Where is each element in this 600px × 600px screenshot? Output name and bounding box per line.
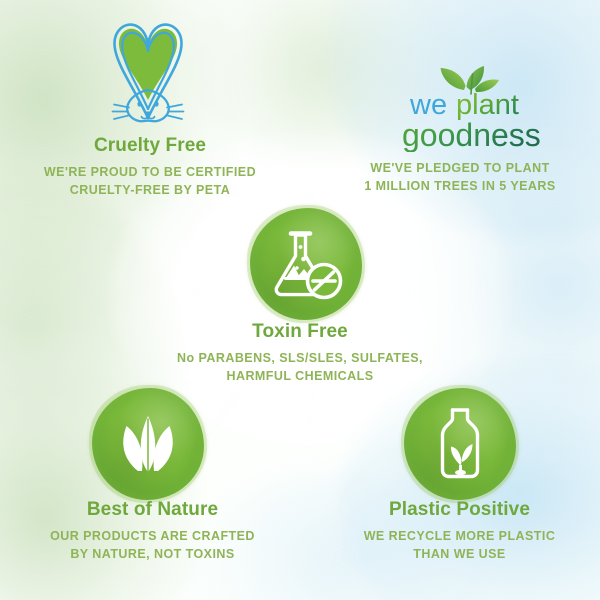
panel-best-of-nature: Best of Nature OUR PRODUCTS ARE CRAFTED …: [25, 500, 280, 563]
toxin-free-title: Toxin Free: [160, 322, 440, 343]
we-plant-goodness-body: WE'VE PLEDGED TO PLANT 1 MILLION TREES I…: [330, 160, 590, 196]
three-leaves-icon: [92, 388, 204, 500]
bottle-with-sprout-icon: [404, 388, 516, 500]
flask-no-entry-icon: [250, 208, 362, 320]
badge-toxin-free: [250, 208, 362, 320]
we-plant-goodness-logo: we plant goodness: [394, 60, 566, 152]
panel-plastic-positive: Plastic Positive WE RECYCLE MORE PLASTIC…: [332, 500, 587, 563]
cruelty-free-body: WE'RE PROUD TO BE CERTIFIED CRUELTY-FREE…: [20, 164, 280, 200]
panel-cruelty-free: Cruelty Free WE'RE PROUD TO BE CERTIFIED…: [20, 136, 280, 199]
peta-cruelty-free-bunny-logo: [92, 14, 204, 132]
badge-best-of-nature: [92, 388, 204, 500]
panel-toxin-free: Toxin Free No PARABENS, SLS/SLES, SULFAT…: [160, 322, 440, 385]
toxin-free-body: No PARABENS, SLS/SLES, SULFATES, HARMFUL…: [160, 350, 440, 386]
cruelty-free-title: Cruelty Free: [20, 136, 280, 157]
best-of-nature-title: Best of Nature: [25, 500, 280, 521]
panel-we-plant-goodness: WE'VE PLEDGED TO PLANT 1 MILLION TREES I…: [330, 160, 590, 196]
plastic-positive-title: Plastic Positive: [332, 500, 587, 521]
plastic-positive-body: WE RECYCLE MORE PLASTIC THAN WE USE: [332, 528, 587, 564]
badge-plastic-positive: [404, 388, 516, 500]
best-of-nature-body: OUR PRODUCTS ARE CRAFTED BY NATURE, NOT …: [25, 528, 280, 564]
brand-promise-infographic: Cruelty Free WE'RE PROUD TO BE CERTIFIED…: [0, 0, 600, 600]
logo-word-goodness: goodness: [402, 117, 541, 152]
